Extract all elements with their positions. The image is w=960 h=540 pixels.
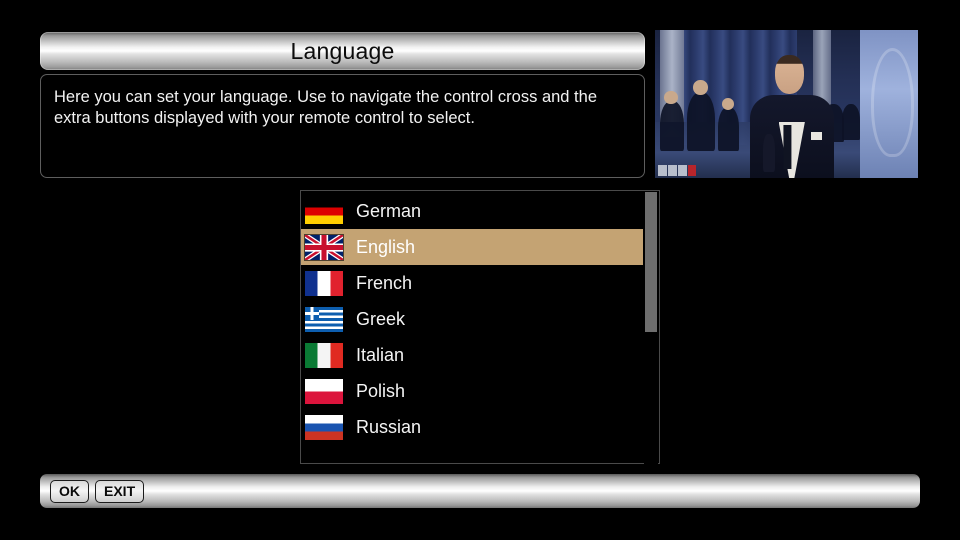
news-channel-logo-icon — [658, 164, 696, 176]
list-item-label: English — [356, 237, 415, 258]
bottom-action-bar: OK EXIT — [40, 474, 920, 508]
greece-flag-icon — [305, 307, 343, 332]
list-item[interactable]: Russian — [301, 409, 643, 445]
video-crowd-figure — [718, 107, 739, 151]
germany-flag-icon — [305, 199, 343, 224]
list-item-label: French — [356, 273, 412, 294]
page-title: Language — [291, 38, 395, 65]
exit-button[interactable]: EXIT — [95, 480, 144, 503]
language-list: German English French — [301, 193, 643, 445]
poland-flag-icon — [305, 379, 343, 404]
title-bar: Language — [40, 32, 645, 70]
video-crowd-figure — [660, 101, 684, 151]
scrollbar[interactable] — [644, 192, 658, 464]
list-item[interactable]: Greek — [301, 301, 643, 337]
description-text: Here you can set your language. Use to n… — [54, 87, 631, 129]
list-item[interactable]: German — [301, 193, 643, 229]
video-crowd-head — [664, 91, 677, 104]
language-list-panel: German English French — [300, 190, 660, 464]
video-panel-right — [860, 30, 918, 178]
list-item-label: Polish — [356, 381, 405, 402]
ok-button[interactable]: OK — [50, 480, 89, 503]
list-item[interactable]: Polish — [301, 373, 643, 409]
list-item-label: Italian — [356, 345, 404, 366]
france-flag-icon — [305, 271, 343, 296]
video-preview[interactable] — [655, 30, 918, 178]
tv-settings-screen: Language Here you can set your language.… — [0, 0, 960, 540]
video-reporter-tie — [783, 125, 792, 169]
scrollbar-thumb[interactable] — [645, 192, 657, 332]
united-kingdom-flag-icon — [305, 235, 343, 260]
list-item-label: German — [356, 201, 421, 222]
video-reporter-head — [775, 55, 804, 93]
list-item-label: Russian — [356, 417, 421, 438]
description-box: Here you can set your language. Use to n… — [40, 74, 645, 178]
list-item[interactable]: French — [301, 265, 643, 301]
list-item[interactable]: English — [301, 229, 643, 265]
video-crowd-figure — [842, 104, 860, 140]
video-crowd-figure — [687, 92, 716, 151]
russia-flag-icon — [305, 415, 343, 440]
italy-flag-icon — [305, 343, 343, 368]
list-item[interactable]: Italian — [301, 337, 643, 373]
list-item-label: Greek — [356, 309, 405, 330]
video-reporter-pocket-square — [811, 132, 822, 139]
video-microphone — [763, 134, 775, 172]
video-crowd-head — [693, 80, 707, 95]
